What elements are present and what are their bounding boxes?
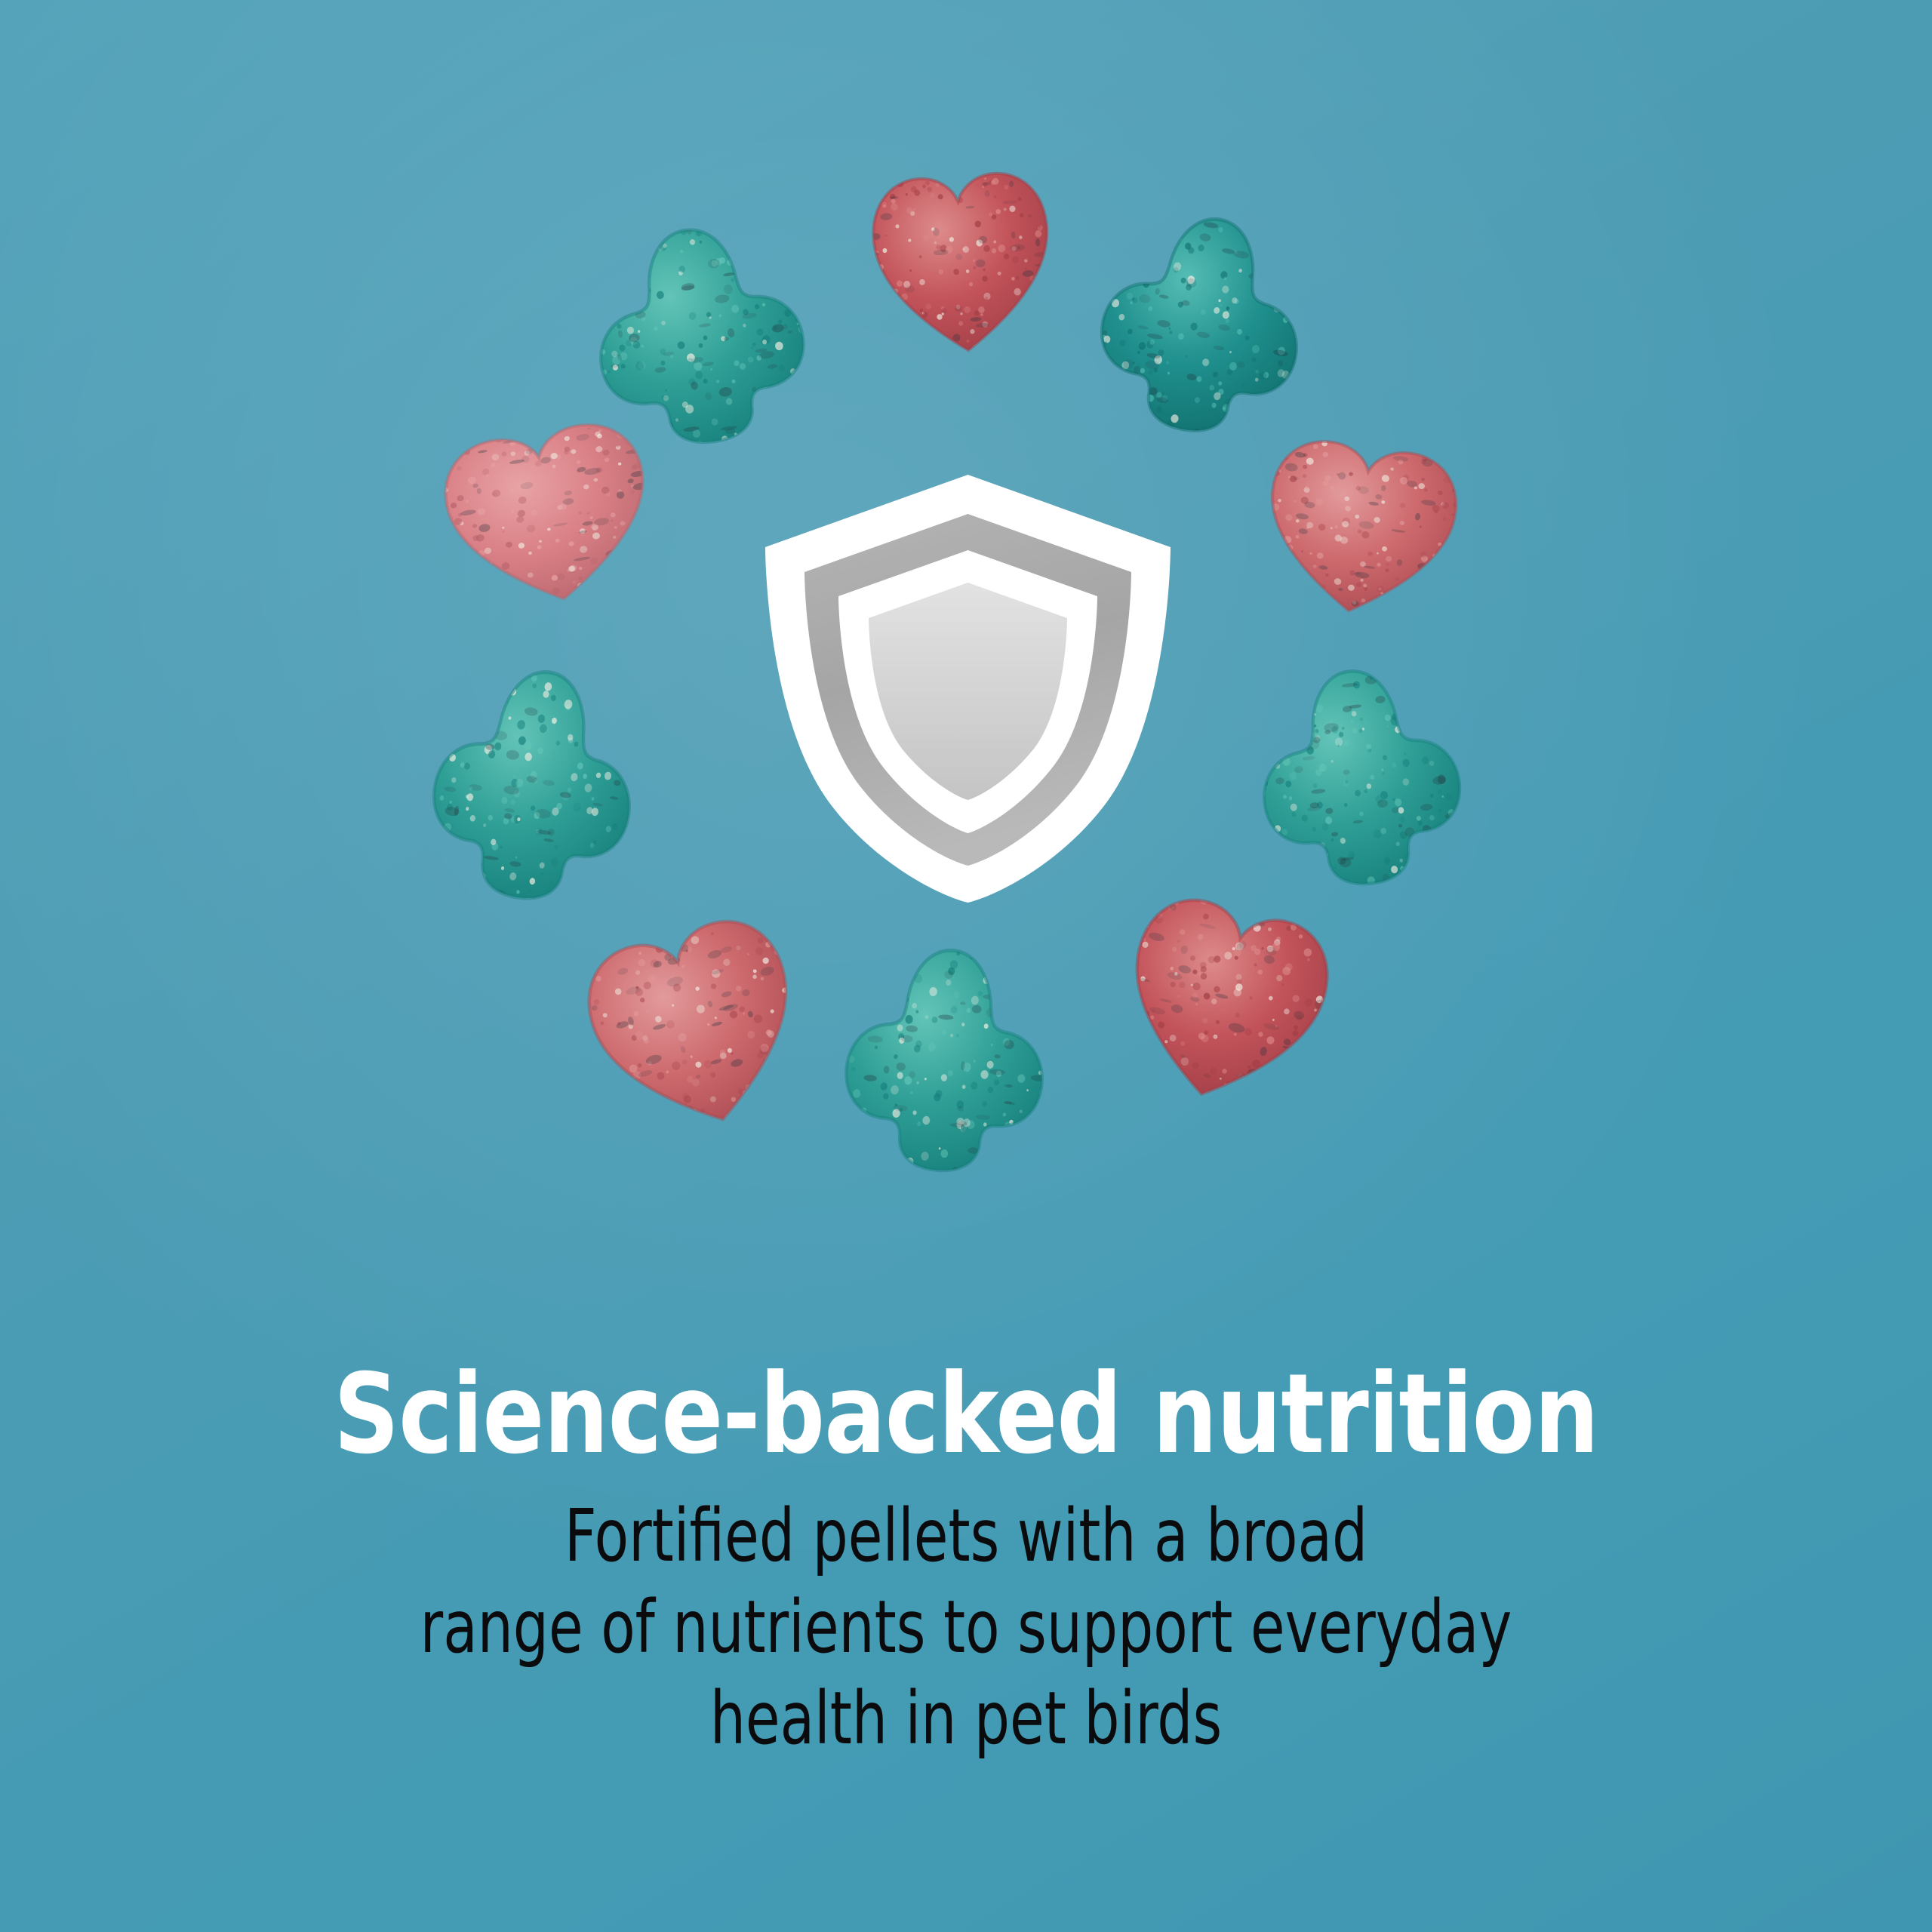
teal-cross-pellet-bottom [838, 937, 1054, 1184]
description-line-3: health in pet birds [135, 1673, 1797, 1764]
page-title: Science-backed nutrition [77, 1358, 1854, 1471]
teal-cross-pellet-left [418, 651, 650, 918]
red-heart-pellet-top [861, 156, 1063, 369]
description-line-1: Fortified pellets with a broad [135, 1491, 1797, 1582]
feature-text-block: Science-backed nutrition Fortified pelle… [0, 1358, 1932, 1764]
red-heart-pellet-right-upper [1248, 421, 1472, 635]
teal-cross-pellet-top-right [1084, 195, 1320, 453]
feature-description: Fortified pellets with a broad range of … [135, 1491, 1797, 1764]
teal-cross-pellet-top-left [581, 209, 818, 462]
red-heart-pellet-bottom-left [563, 891, 830, 1161]
red-heart-pellet-bottom-right [1098, 872, 1352, 1131]
product-feature-card: Science-backed nutrition Fortified pelle… [0, 0, 1932, 1932]
shield-icon [762, 472, 1174, 906]
teal-cross-pellet-right [1249, 654, 1472, 900]
description-line-2: range of nutrients to support everyday [135, 1582, 1797, 1673]
